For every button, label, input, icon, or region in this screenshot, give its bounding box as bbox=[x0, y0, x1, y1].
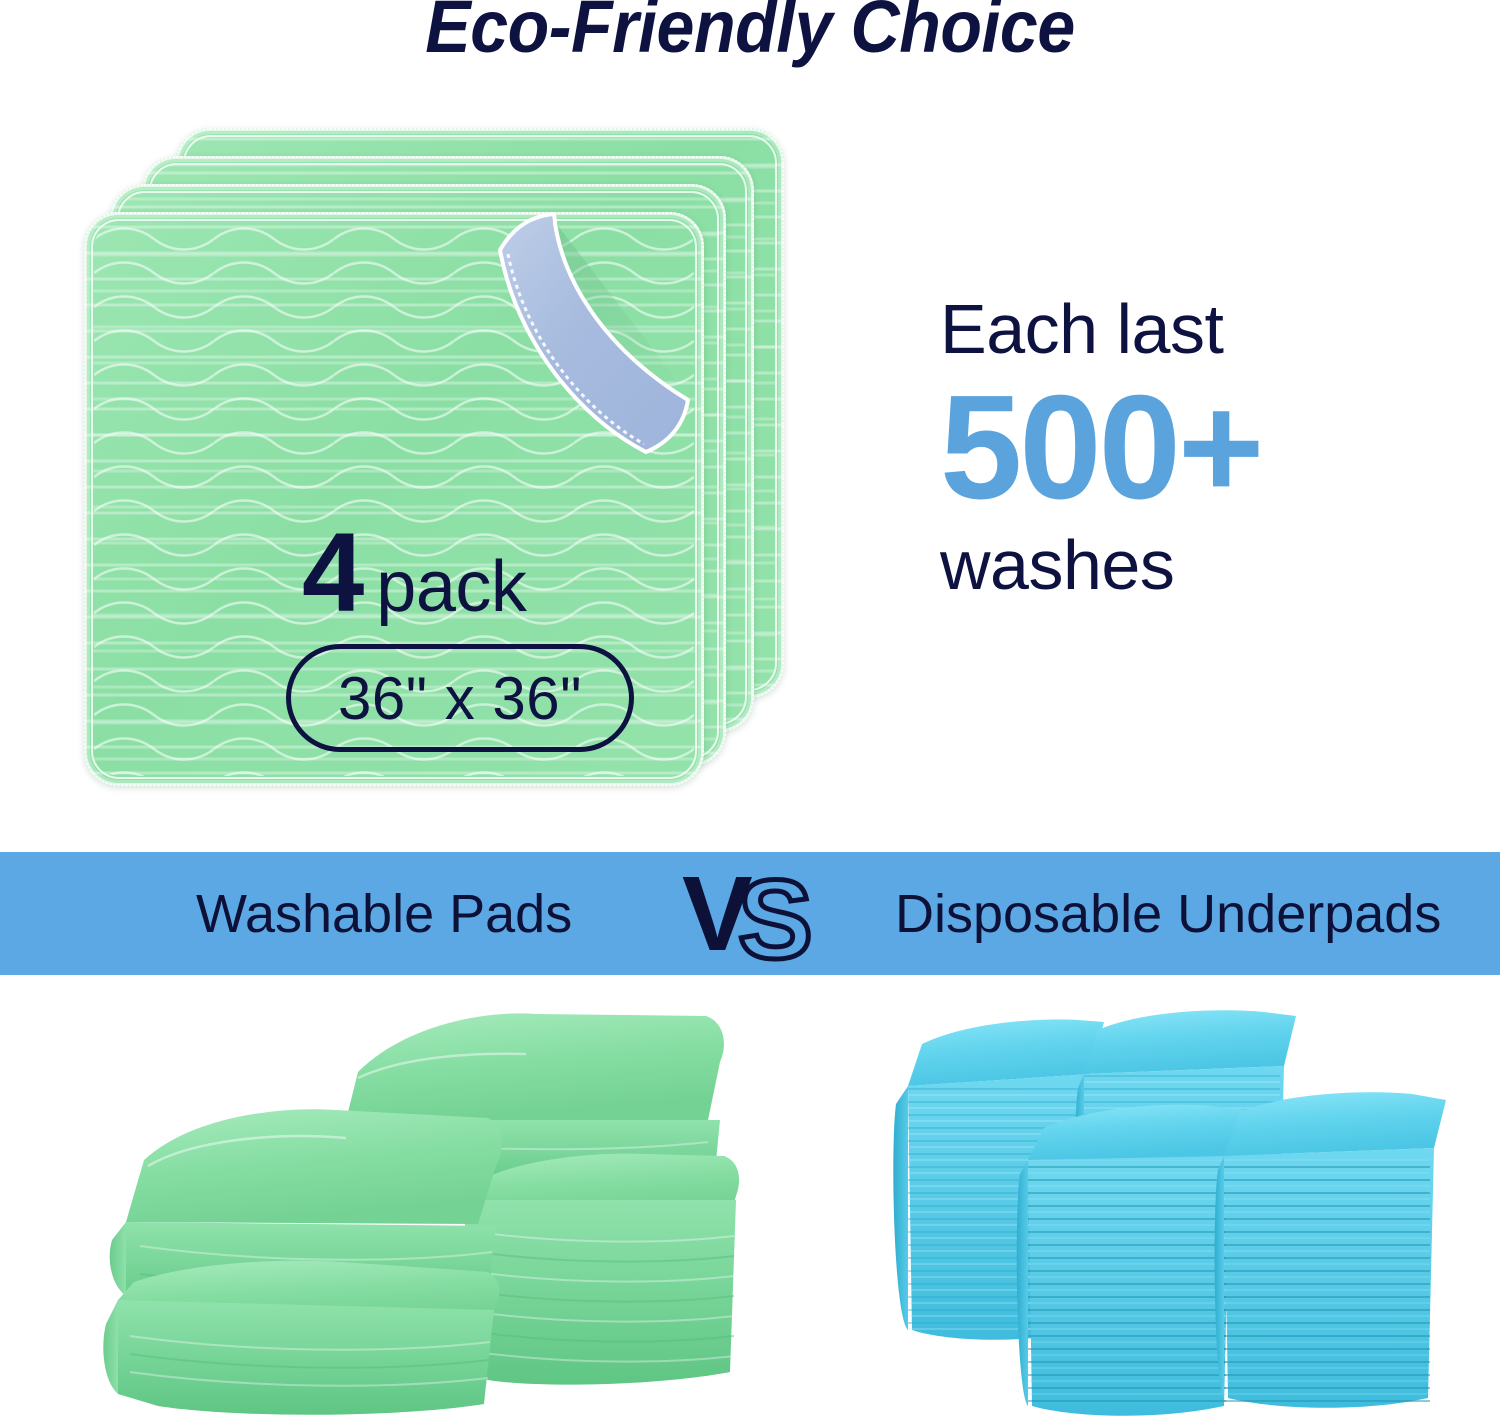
product-infographic-page: Eco-Friendly Choice bbox=[0, 0, 1500, 1421]
disposable-underpads-photo bbox=[878, 1000, 1468, 1421]
stat-line-1: Each last bbox=[940, 294, 1410, 364]
comparison-left-label: Washable Pads bbox=[196, 883, 572, 945]
size-badge: 36" x 36" bbox=[286, 644, 634, 752]
pack-count-word: pack bbox=[376, 557, 526, 617]
washable-pads-photo bbox=[96, 1000, 756, 1421]
pad-stack-illustration: 4 pack 36" x 36" bbox=[84, 128, 784, 788]
comparison-banner: Washable Pads V S Disposable Underpads bbox=[0, 852, 1500, 975]
underpad-stack-front-left bbox=[1017, 1105, 1244, 1416]
svg-text:S: S bbox=[738, 862, 813, 966]
stat-line-3: washes bbox=[940, 530, 1410, 600]
folded-pad-front-lower bbox=[103, 1261, 499, 1415]
pack-count-number: 4 bbox=[302, 526, 362, 620]
vs-badge: V S bbox=[680, 862, 850, 966]
stat-number: 500+ bbox=[940, 368, 1410, 528]
durability-stat-block: Each last 500+ washes bbox=[940, 294, 1410, 600]
folded-pad-back-lower bbox=[455, 1154, 740, 1385]
page-title: Eco-Friendly Choice bbox=[60, 0, 1440, 69]
comparison-right-label: Disposable Underpads bbox=[895, 883, 1441, 945]
pack-count-caption: 4 pack bbox=[302, 526, 526, 620]
size-badge-label: 36" x 36" bbox=[338, 664, 582, 733]
underpad-stack-front-right bbox=[1215, 1092, 1446, 1407]
